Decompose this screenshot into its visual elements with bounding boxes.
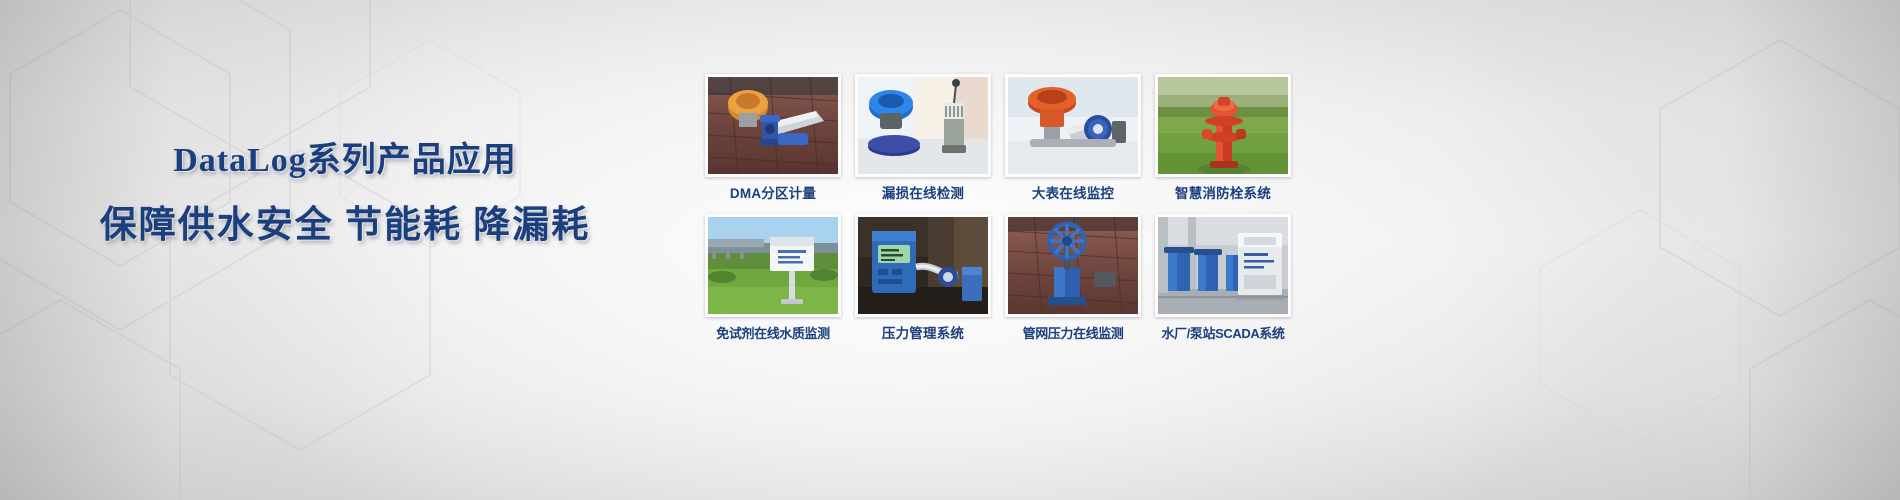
tile-pressure-management[interactable]: 压力管理系统 [855, 214, 991, 342]
thumbnail-frame[interactable] [705, 214, 841, 317]
tile-dma-flow-meter[interactable]: DMA分区计量 [705, 74, 841, 202]
thumbnail-frame[interactable] [1155, 74, 1291, 177]
thumbnail-frame[interactable] [1155, 214, 1291, 317]
thumbnail-frame[interactable] [705, 74, 841, 177]
tile-caption: 管网压力在线监测 [1005, 326, 1141, 342]
headline-line-2: 保障供水安全 节能耗 降漏耗 [0, 203, 690, 249]
tile-row-2: 免试剂在线水质监测 [705, 214, 1285, 342]
tile-large-meter-monitor[interactable]: 大表在线监控 [1005, 74, 1141, 202]
tile-water-quality-monitor[interactable]: 免试剂在线水质监测 [705, 214, 841, 342]
scada-system-photo [1158, 217, 1288, 314]
thumbnail-frame[interactable] [855, 214, 991, 317]
reagent-free-water-quality-photo [708, 217, 838, 314]
tile-leak-detection[interactable]: 漏损在线检测 [855, 74, 991, 202]
pressure-management-photo [858, 217, 988, 314]
pipe-pressure-monitor-photo [1008, 217, 1138, 314]
thumbnail-frame[interactable] [1005, 74, 1141, 177]
smart-hydrant-photo [1158, 77, 1288, 174]
tile-caption: 免试剂在线水质监测 [705, 326, 841, 342]
tile-pipe-pressure-monitor[interactable]: 管网压力在线监测 [1005, 214, 1141, 342]
dma-flow-meter-photo [708, 77, 838, 174]
thumbnail-frame[interactable] [1005, 214, 1141, 317]
tile-smart-hydrant[interactable]: 智慧消防栓系统 [1155, 74, 1291, 202]
thumbnail-frame[interactable] [855, 74, 991, 177]
large-meter-monitor-photo [1008, 77, 1138, 174]
headline-line-1: DataLog系列产品应用 [0, 140, 690, 182]
product-application-banner: DataLog系列产品应用 保障供水安全 节能耗 降漏耗 [0, 0, 1900, 500]
tile-caption: 压力管理系统 [855, 326, 991, 342]
headline-block: DataLog系列产品应用 保障供水安全 节能耗 降漏耗 [0, 140, 690, 249]
tile-scada-system[interactable]: 水厂/泵站SCADA系统 [1155, 214, 1291, 342]
tile-caption: 水厂/泵站SCADA系统 [1155, 326, 1291, 342]
tile-caption: DMA分区计量 [705, 186, 841, 202]
leak-detection-logger-photo [858, 77, 988, 174]
tile-caption: 智慧消防栓系统 [1155, 186, 1291, 202]
tile-caption: 漏损在线检测 [855, 186, 991, 202]
tile-row-1: DMA分区计量 [705, 74, 1285, 202]
tile-caption: 大表在线监控 [1005, 186, 1141, 202]
product-tile-grid: DMA分区计量 [705, 74, 1285, 342]
